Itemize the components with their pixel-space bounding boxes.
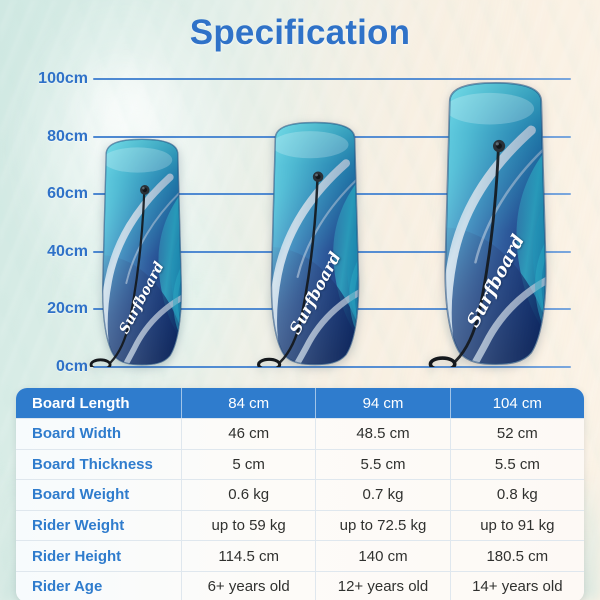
- medium-bodyboard[interactable]: Surfboard: [253, 120, 377, 367]
- ruler-tick-label: 0cm: [2, 357, 88, 377]
- table-row: Board Weight0.6 kg0.7 kg0.8 kg: [16, 479, 584, 510]
- spec-cell-value: 14+ years old: [450, 572, 584, 600]
- ruler-tick-label: 100cm: [2, 69, 88, 89]
- spec-cell-value: 104 cm: [450, 388, 584, 418]
- specification-table-body: Board Length84 cm94 cm104 cmBoard Width4…: [16, 388, 584, 600]
- spec-cell-value: 180.5 cm: [450, 541, 584, 571]
- spec-row-label: Board Length: [16, 388, 181, 418]
- large-bodyboard[interactable]: Surfboard: [424, 80, 567, 367]
- spec-row-label: Board Width: [16, 419, 181, 449]
- spec-row-label: Rider Weight: [16, 511, 181, 541]
- spec-cell-value: up to 59 kg: [181, 511, 315, 541]
- table-row: Board Width46 cm48.5 cm52 cm: [16, 418, 584, 449]
- spec-cell-value: 140 cm: [315, 541, 449, 571]
- ruler-tick-label: 80cm: [2, 127, 88, 147]
- spec-cell-value: 0.6 kg: [181, 480, 315, 510]
- spec-cell-value: 48.5 cm: [315, 419, 449, 449]
- spec-cell-value: 52 cm: [450, 419, 584, 449]
- spec-row-label: Rider Age: [16, 572, 181, 600]
- ruler-tick-label: 20cm: [2, 299, 88, 319]
- spec-cell-value: 114.5 cm: [181, 541, 315, 571]
- small-bodyboard[interactable]: Surfboard: [86, 137, 198, 367]
- spec-cell-value: up to 91 kg: [450, 511, 584, 541]
- spec-cell-value: 94 cm: [315, 388, 449, 418]
- spec-cell-value: 0.8 kg: [450, 480, 584, 510]
- spec-cell-value: 0.7 kg: [315, 480, 449, 510]
- spec-cell-value: 5 cm: [181, 450, 315, 480]
- spec-table-header-row: Board Length84 cm94 cm104 cm: [16, 388, 584, 418]
- spec-cell-value: 5.5 cm: [450, 450, 584, 480]
- spec-cell-value: 84 cm: [181, 388, 315, 418]
- spec-cell-value: 6+ years old: [181, 572, 315, 600]
- spec-cell-value: 46 cm: [181, 419, 315, 449]
- spec-cell-value: 12+ years old: [315, 572, 449, 600]
- height-ruler-chart: 100cm80cm60cm40cm20cm0cm: [0, 0, 600, 385]
- ruler-tick-label: 40cm: [2, 242, 88, 262]
- specification-table: Board Length84 cm94 cm104 cmBoard Width4…: [16, 388, 584, 600]
- spec-row-label: Board Thickness: [16, 450, 181, 480]
- spec-row-label: Board Weight: [16, 480, 181, 510]
- spec-cell-value: 5.5 cm: [315, 450, 449, 480]
- spec-cell-value: up to 72.5 kg: [315, 511, 449, 541]
- table-row: Board Thickness5 cm5.5 cm5.5 cm: [16, 449, 584, 480]
- spec-row-label: Rider Height: [16, 541, 181, 571]
- specification-infographic: Specification 100cm80cm60cm40cm20cm0cm: [0, 0, 600, 600]
- table-row: Rider Weightup to 59 kgup to 72.5 kgup t…: [16, 510, 584, 541]
- ruler-tick-label: 60cm: [2, 184, 88, 204]
- table-row: Rider Height114.5 cm140 cm180.5 cm: [16, 540, 584, 571]
- table-row: Rider Age6+ years old12+ years old14+ ye…: [16, 571, 584, 600]
